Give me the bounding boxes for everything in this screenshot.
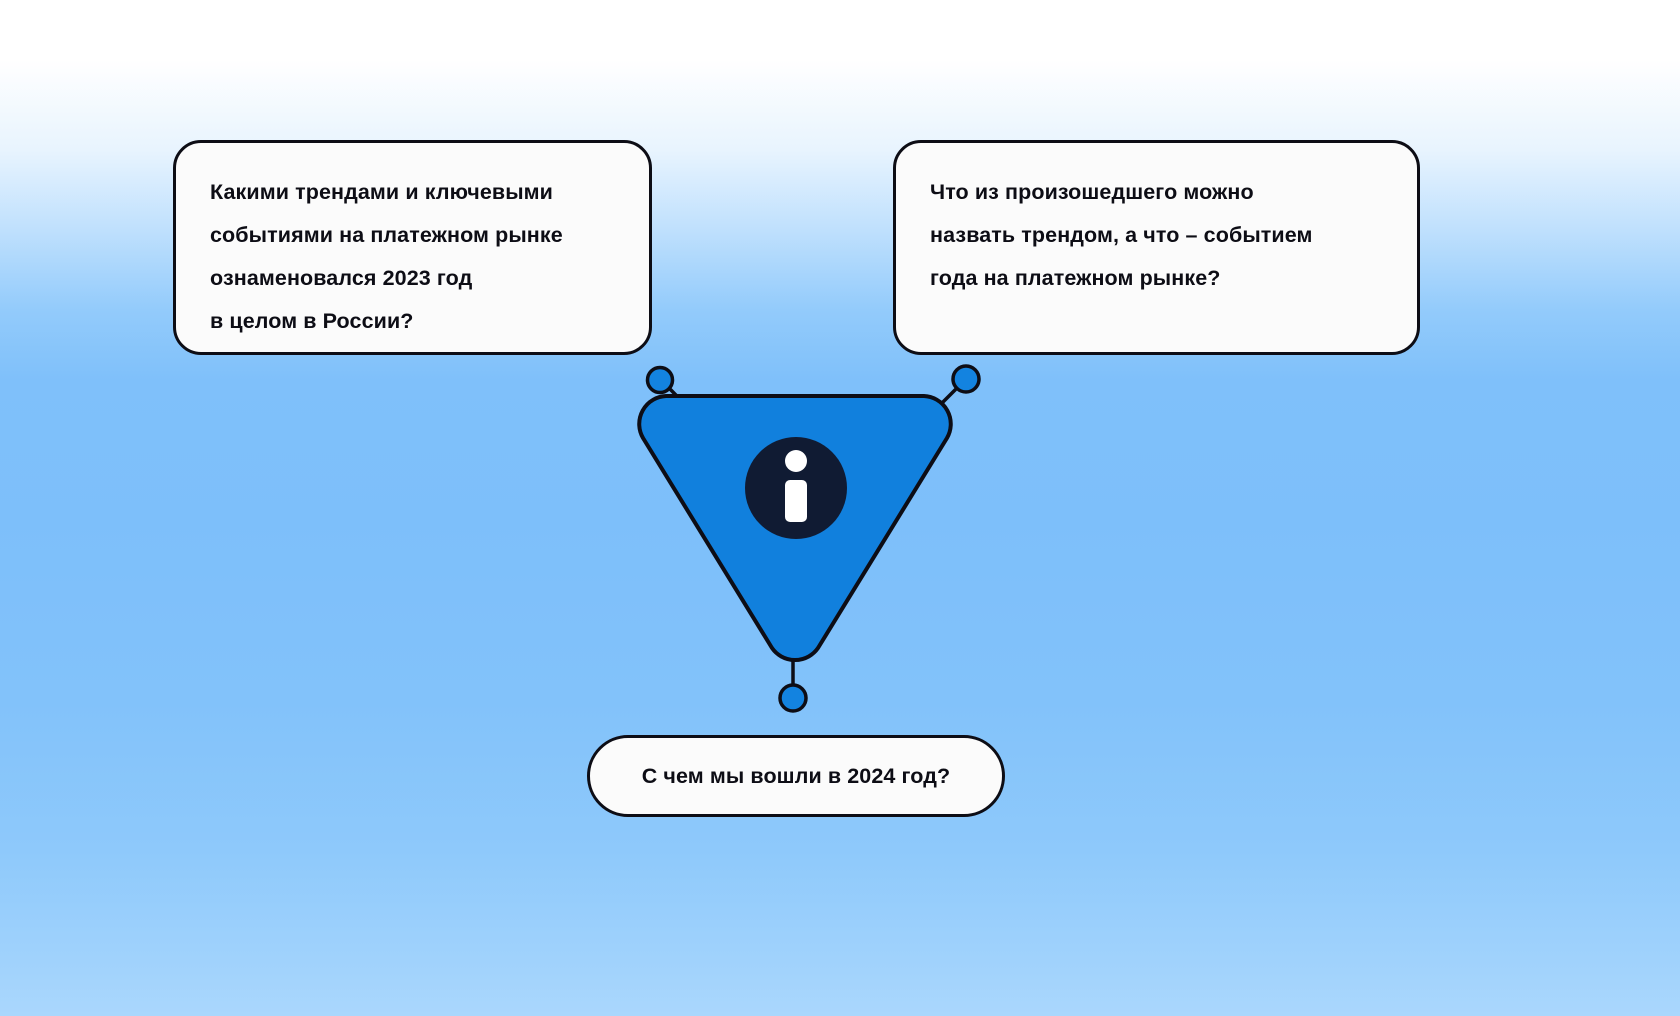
info-badge-graphic <box>630 380 960 670</box>
question-card-right-text: Что из произошедшего можно назвать тренд… <box>930 171 1383 300</box>
question-card-right[interactable]: Что из произошедшего можно назвать тренд… <box>893 140 1420 355</box>
info-icon-stem <box>785 480 807 522</box>
infographic-canvas: Какими трендами и ключевыми событиями на… <box>0 0 1680 1016</box>
question-card-bottom[interactable]: С чем мы вошли в 2024 год? <box>587 735 1005 817</box>
info-badge[interactable] <box>630 380 960 670</box>
question-card-left-text: Какими трендами и ключевыми событиями на… <box>210 171 615 343</box>
info-icon-dot <box>785 450 807 472</box>
question-card-left[interactable]: Какими трендами и ключевыми событиями на… <box>173 140 652 355</box>
connector-node-bottom[interactable] <box>780 685 806 711</box>
question-card-bottom-text: С чем мы вошли в 2024 год? <box>642 755 951 798</box>
